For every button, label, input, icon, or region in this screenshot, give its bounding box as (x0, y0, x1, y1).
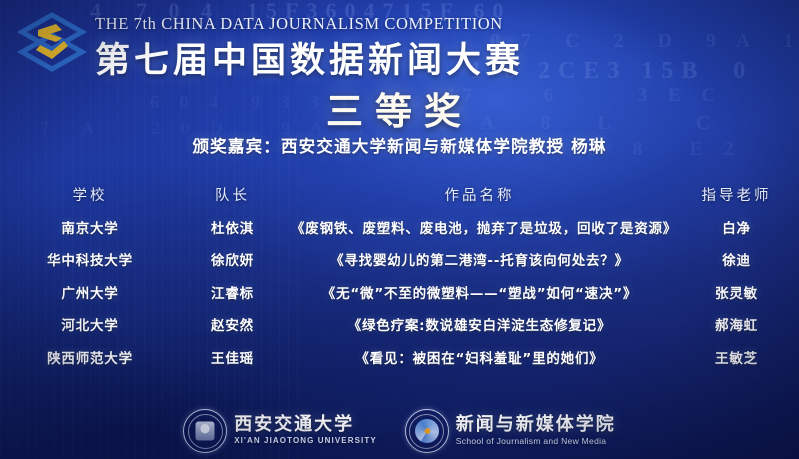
cell-teacher: 白净 (674, 217, 799, 237)
cell-teacher: 郝海虹 (674, 314, 799, 334)
journalism-school-logo-text: 新闻与新媒体学院 School of Journalism and New Me… (456, 416, 616, 446)
table-row: 河北大学 赵安然 《绿色疗案:数说雄安白洋淀生态修复记》 郝海虹 (0, 308, 799, 341)
diamond-layers-logo-icon (16, 11, 88, 73)
column-header-teacher: 指导老师 (674, 184, 799, 205)
journalism-school-seal-icon (405, 409, 449, 453)
xjtu-name-cn: 西安交通大学 (234, 416, 377, 435)
column-header-school: 学校 (0, 184, 180, 205)
cell-school: 南京大学 (0, 217, 180, 237)
xjtu-name-en: XI'AN JIAOTONG UNIVERSITY (234, 437, 377, 445)
cell-work: 《无“微”不至的微塑料——“塑战”如何“速决”》 (285, 282, 674, 302)
cell-work: 《绿色疗案:数说雄安白洋淀生态修复记》 (285, 314, 674, 334)
table-row: 南京大学 杜依淇 《废钢铁、废塑料、废电池，抛弃了是垃圾，回收了是资源》 白净 (0, 211, 799, 244)
cell-school: 陕西师范大学 (0, 347, 180, 367)
cell-work: 《看见：被困在“妇科羞耻”里的她们》 (285, 347, 674, 367)
slide-header: THE 7th CHINA DATA JOURNALISM COMPETITIO… (0, 0, 799, 80)
cell-leader: 杜依淇 (180, 217, 285, 237)
xjtu-logo: 西安交通大学 XI'AN JIAOTONG UNIVERSITY (183, 409, 377, 453)
award-title: 三等奖 (0, 81, 799, 135)
cell-leader: 江睿标 (180, 282, 285, 302)
footer-logos: 西安交通大学 XI'AN JIAOTONG UNIVERSITY 新闻与新媒体学… (0, 409, 799, 453)
cell-school: 华中科技大学 (0, 249, 180, 269)
presenter-line: 颁奖嘉宾：西安交通大学新闻与新媒体学院教授 杨琳 (0, 133, 799, 157)
xjtu-seal-icon (183, 409, 227, 453)
cell-leader: 赵安然 (180, 314, 285, 334)
xjtu-logo-text: 西安交通大学 XI'AN JIAOTONG UNIVERSITY (234, 416, 377, 445)
cell-leader: 王佳瑶 (180, 347, 285, 367)
award-slide: 4 7 0 4 15F3604715F 60 0 7 C 2 D 9 A 1 A… (0, 0, 799, 459)
cell-teacher: 王敏芝 (674, 347, 799, 367)
competition-cn-title: 第七届中国数据新闻大赛 (95, 32, 524, 83)
competition-en-title: THE 7th CHINA DATA JOURNALISM COMPETITIO… (95, 14, 503, 34)
journalism-school-name-cn: 新闻与新媒体学院 (456, 416, 616, 435)
journalism-school-name-en: School of Journalism and New Media (456, 437, 616, 446)
cell-teacher: 张灵敏 (674, 282, 799, 302)
winners-table: 学校 队长 作品名称 指导老师 南京大学 杜依淇 《废钢铁、废塑料、废电池，抛弃… (0, 178, 799, 373)
journalism-school-logo: 新闻与新媒体学院 School of Journalism and New Me… (405, 409, 616, 453)
table-row: 陕西师范大学 王佳瑶 《看见：被困在“妇科羞耻”里的她们》 王敏芝 (0, 341, 799, 374)
cell-school: 广州大学 (0, 282, 180, 302)
cell-school: 河北大学 (0, 314, 180, 334)
table-row: 华中科技大学 徐欣妍 《寻找婴幼儿的第二港湾--托育该向何处去？》 徐迪 (0, 243, 799, 276)
cell-work: 《废钢铁、废塑料、废电池，抛弃了是垃圾，回收了是资源》 (285, 217, 674, 237)
cell-teacher: 徐迪 (674, 249, 799, 269)
table-body: 南京大学 杜依淇 《废钢铁、废塑料、废电池，抛弃了是垃圾，回收了是资源》 白净 … (0, 211, 799, 374)
table-row: 广州大学 江睿标 《无“微”不至的微塑料——“塑战”如何“速决”》 张灵敏 (0, 276, 799, 309)
table-header-row: 学校 队长 作品名称 指导老师 (0, 178, 799, 211)
cell-work: 《寻找婴幼儿的第二港湾--托育该向何处去？》 (285, 249, 674, 269)
column-header-work: 作品名称 (285, 184, 674, 205)
cell-leader: 徐欣妍 (180, 249, 285, 269)
column-header-leader: 队长 (180, 184, 285, 205)
